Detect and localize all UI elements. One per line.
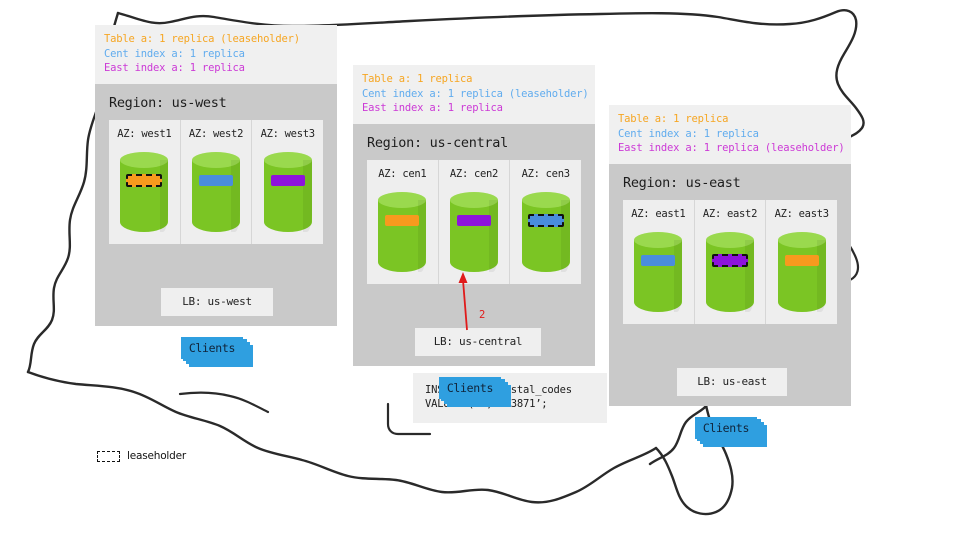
cylinder-shade [231, 160, 240, 232]
replica-table [785, 255, 819, 266]
replica-cent-index [641, 255, 675, 266]
replica-table-leaseholder [126, 174, 162, 187]
replica-legend-us-west: Table a: 1 replica (leaseholder) Cent in… [95, 25, 337, 84]
az-label-west2: AZ: west2 [181, 128, 252, 140]
replica-legend-us-east: Table a: 1 replica Cent index a: 1 repli… [609, 105, 851, 164]
node-cylinder-cen3[interactable] [522, 192, 570, 272]
node-cylinder-west3[interactable] [264, 152, 312, 232]
node-cylinder-cen2[interactable] [450, 192, 498, 272]
dashed-rectangle-icon [97, 451, 120, 462]
clients-stack-us-west[interactable]: Clients [181, 337, 253, 367]
az-label-east2: AZ: east2 [695, 208, 766, 220]
legend-line-cent-index: Cent index a: 1 replica [618, 127, 842, 142]
az-east3[interactable]: AZ: east3 [766, 200, 837, 324]
node-cylinder-west1[interactable] [120, 152, 168, 232]
az-cen1[interactable]: AZ: cen1 [367, 160, 439, 284]
legend-line-cent-index: Cent index a: 1 replica (leaseholder) [362, 87, 586, 102]
az-west1[interactable]: AZ: west1 [109, 120, 181, 244]
replica-cent-index-leaseholder [528, 214, 564, 227]
node-cylinder-west2[interactable] [192, 152, 240, 232]
replica-east-index [457, 215, 491, 226]
az-label-cen1: AZ: cen1 [367, 168, 438, 180]
legend-line-east-index: East index a: 1 replica [362, 101, 586, 116]
diagram-canvas: Table a: 1 replica (leaseholder) Cent in… [0, 0, 960, 540]
region-title-us-west: Region: us-west [95, 84, 337, 120]
legend-line-table: Table a: 1 replica [618, 112, 842, 127]
az-west2[interactable]: AZ: west2 [181, 120, 253, 244]
az-cen2[interactable]: AZ: cen2 [439, 160, 511, 284]
az-label-west3: AZ: west3 [252, 128, 323, 140]
clients-label[interactable]: Clients [695, 417, 757, 439]
replica-east-index [271, 175, 305, 186]
legend-line-table: Table a: 1 replica (leaseholder) [104, 32, 328, 47]
node-cylinder-east3[interactable] [778, 232, 826, 312]
cylinder-shade [561, 200, 570, 272]
cylinder-shade [418, 200, 427, 272]
az-label-cen2: AZ: cen2 [439, 168, 510, 180]
legend-line-table: Table a: 1 replica [362, 72, 586, 87]
legend-line-cent-index: Cent index a: 1 replica [104, 47, 328, 62]
region-title-us-central: Region: us-central [353, 124, 595, 160]
az-east1[interactable]: AZ: east1 [623, 200, 695, 324]
replica-cent-index [199, 175, 233, 186]
load-balancer-us-west[interactable]: LB: us-west [161, 288, 273, 316]
region-title-us-east: Region: us-east [609, 164, 851, 200]
load-balancer-us-central[interactable]: LB: us-central [415, 328, 541, 356]
clients-label[interactable]: Clients [181, 337, 243, 359]
leaseholder-legend: leaseholder [97, 450, 186, 462]
az-cen3[interactable]: AZ: cen3 [510, 160, 581, 284]
az-strip-us-central: AZ: cen1 AZ: cen2 [367, 160, 581, 284]
clients-stack-us-central[interactable]: Clients [439, 377, 511, 407]
legend-line-east-index: East index a: 1 replica [104, 61, 328, 76]
cylinder-shade [817, 240, 826, 312]
node-cylinder-east1[interactable] [634, 232, 682, 312]
replica-legend-us-central: Table a: 1 replica Cent index a: 1 repli… [353, 65, 595, 124]
az-label-cen3: AZ: cen3 [510, 168, 581, 180]
node-cylinder-east2[interactable] [706, 232, 754, 312]
region-panel-us-east: Table a: 1 replica Cent index a: 1 repli… [609, 105, 851, 406]
az-label-west1: AZ: west1 [109, 128, 180, 140]
az-strip-us-west: AZ: west1 AZ: west2 [109, 120, 323, 244]
cylinder-shade [745, 240, 754, 312]
cylinder-shade [303, 160, 312, 232]
region-panel-us-west: Table a: 1 replica (leaseholder) Cent in… [95, 25, 337, 326]
leaseholder-legend-label: leaseholder [127, 450, 186, 462]
write-arrow-to-cen2 [453, 270, 493, 332]
region-panel-us-central: Table a: 1 replica Cent index a: 1 repli… [353, 65, 595, 366]
replica-table [385, 215, 419, 226]
az-west3[interactable]: AZ: west3 [252, 120, 323, 244]
load-balancer-us-east[interactable]: LB: us-east [677, 368, 787, 396]
az-east2[interactable]: AZ: east2 [695, 200, 767, 324]
node-cylinder-cen1[interactable] [378, 192, 426, 272]
cylinder-shade [674, 240, 683, 312]
az-label-east1: AZ: east1 [623, 208, 694, 220]
cylinder-shade [489, 200, 498, 272]
replica-east-index-leaseholder [712, 254, 748, 267]
legend-line-east-index: East index a: 1 replica (leaseholder) [618, 141, 842, 156]
clients-label[interactable]: Clients [439, 377, 501, 399]
clients-stack-us-east[interactable]: Clients [695, 417, 767, 447]
cylinder-shade [160, 160, 169, 232]
az-strip-us-east: AZ: east1 AZ: east2 [623, 200, 837, 324]
az-label-east3: AZ: east3 [766, 208, 837, 220]
